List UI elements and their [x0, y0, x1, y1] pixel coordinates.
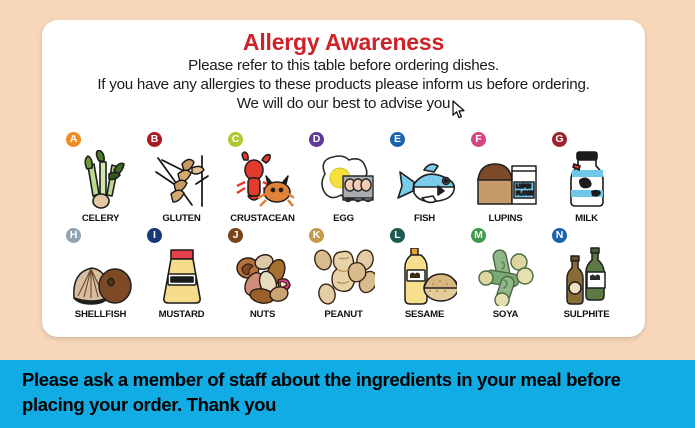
allergen-item-sulphite: N SULPHITE: [546, 224, 627, 320]
allergen-item-gluten: B GLUTEN: [141, 128, 222, 224]
peanut-icon: [303, 244, 384, 306]
allergen-badge-wrap: C: [222, 132, 303, 148]
celery-icon: [60, 148, 141, 210]
allergen-letter-badge: I: [147, 228, 162, 243]
allergen-letter-badge: J: [228, 228, 243, 243]
subtitle-line-3: We will do our best to advise you: [42, 94, 645, 113]
allergen-row-1: A CELERYB GLUTENC: [60, 128, 627, 224]
subtitle-line-1: Please refer to this table before orderi…: [42, 56, 645, 75]
allergen-letter-badge: B: [147, 132, 162, 147]
allergen-label: CRUSTACEAN: [222, 213, 303, 224]
allergen-item-crustacean: C CRUSTACEAN: [222, 128, 303, 224]
allergen-label: SULPHITE: [546, 309, 627, 320]
allergen-letter-badge: H: [66, 228, 81, 243]
allergen-label: GLUTEN: [141, 213, 222, 224]
allergen-label: SESAME: [384, 309, 465, 320]
allergen-letter-badge: M: [471, 228, 486, 243]
allergen-letter-badge: A: [66, 132, 81, 147]
mustard-bottle-icon: [141, 244, 222, 306]
allergen-letter-badge: K: [309, 228, 324, 243]
allergen-badge-wrap: A: [60, 132, 141, 148]
allergen-item-sesame: L SESAME: [384, 224, 465, 320]
allergen-badge-wrap: D: [303, 132, 384, 148]
allergen-item-nuts: J NUTS: [222, 224, 303, 320]
fish-icon: [384, 148, 465, 210]
allergen-label: SOYA: [465, 309, 546, 320]
mixed-nuts-icon: [222, 244, 303, 306]
allergen-letter-badge: L: [390, 228, 405, 243]
allergen-item-milk: G MILK: [546, 128, 627, 224]
banner-line-2: placing your order. Thank you: [22, 392, 673, 417]
allergen-badge-wrap: F: [465, 132, 546, 148]
staff-notice-banner: Please ask a member of staff about the i…: [0, 360, 695, 428]
allergen-item-mustard: I MUSTARD: [141, 224, 222, 320]
lupins-bread-icon: LUPIN FLOUR: [465, 148, 546, 210]
allergen-badge-wrap: K: [303, 228, 384, 244]
poster-header: Allergy Awareness Please refer to this t…: [42, 20, 645, 113]
allergen-badge-wrap: I: [141, 228, 222, 244]
allergen-letter-badge: N: [552, 228, 567, 243]
allergen-item-egg: D EGG: [303, 128, 384, 224]
allergen-letter-badge: E: [390, 132, 405, 147]
allergen-item-celery: A CELERY: [60, 128, 141, 224]
allergen-badge-wrap: N: [546, 228, 627, 244]
allergy-poster: Allergy Awareness Please refer to this t…: [0, 0, 695, 360]
svg-text:FLOUR: FLOUR: [516, 191, 534, 197]
allergen-badge-wrap: H: [60, 228, 141, 244]
allergen-item-lupins: F LUPIN FLOUR LUPINS: [465, 128, 546, 224]
lobster-crab-icon: [222, 148, 303, 210]
allergen-letter-badge: G: [552, 132, 567, 147]
allergen-grid: A CELERYB GLUTENC: [60, 128, 627, 320]
allergen-row-2: H SHELLFISHI MUSTARDJ: [60, 224, 627, 320]
allergen-item-shellfish: H SHELLFISH: [60, 224, 141, 320]
mouse-cursor: [452, 100, 466, 120]
allergen-letter-badge: D: [309, 132, 324, 147]
allergen-item-soya: M SOYA: [465, 224, 546, 320]
allergen-label: CELERY: [60, 213, 141, 224]
allergen-label: SHELLFISH: [60, 309, 141, 320]
page-title: Allergy Awareness: [42, 29, 645, 56]
soya-icon: [465, 244, 546, 306]
allergen-letter-badge: F: [471, 132, 486, 147]
allergen-badge-wrap: G: [546, 132, 627, 148]
milk-bottle-icon: [546, 148, 627, 210]
sesame-oil-bread-icon: [384, 244, 465, 306]
allergen-label: MUSTARD: [141, 309, 222, 320]
allergen-badge-wrap: E: [384, 132, 465, 148]
allergen-label: NUTS: [222, 309, 303, 320]
allergen-badge-wrap: J: [222, 228, 303, 244]
shellfish-icon: [60, 244, 141, 306]
svg-text:LUPIN: LUPIN: [516, 184, 531, 190]
allergen-letter-badge: C: [228, 132, 243, 147]
allergen-badge-wrap: L: [384, 228, 465, 244]
allergen-item-peanut: K PEANUT: [303, 224, 384, 320]
poster-card: Allergy Awareness Please refer to this t…: [42, 20, 645, 337]
allergen-badge-wrap: B: [141, 132, 222, 148]
allergen-label: FISH: [384, 213, 465, 224]
allergen-label: EGG: [303, 213, 384, 224]
banner-line-1: Please ask a member of staff about the i…: [22, 367, 673, 392]
allergen-label: LUPINS: [465, 213, 546, 224]
subtitle-line-2: If you have any allergies to these produ…: [42, 75, 645, 94]
allergen-label: PEANUT: [303, 309, 384, 320]
allergen-label: MILK: [546, 213, 627, 224]
allergen-item-fish: E FISH: [384, 128, 465, 224]
wine-bottles-icon: [546, 244, 627, 306]
wheat-icon: [141, 148, 222, 210]
egg-icon: [303, 148, 384, 210]
allergen-badge-wrap: M: [465, 228, 546, 244]
